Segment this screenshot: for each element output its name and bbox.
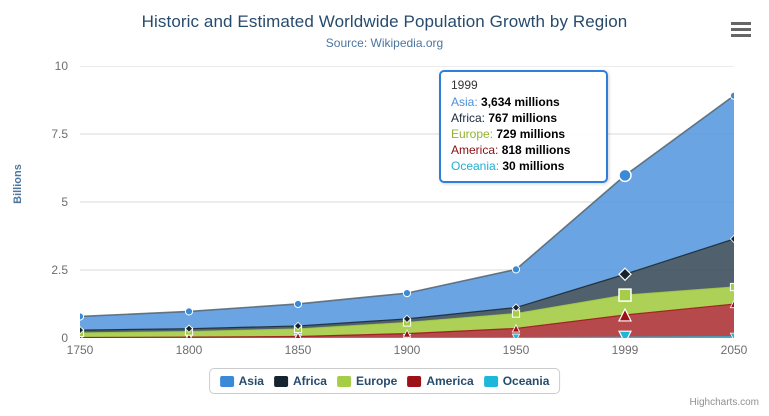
tooltip-series-value: 729 millions <box>496 127 565 141</box>
legend-item-africa[interactable]: Africa <box>274 374 327 388</box>
y-axis-tick-label: 5 <box>8 195 68 209</box>
y-axis-tick-label: 2.5 <box>8 263 68 277</box>
x-axis-tick-label: 1999 <box>590 343 660 357</box>
legend-item-america[interactable]: America <box>407 374 473 388</box>
data-point-asia-1950[interactable] <box>512 266 519 273</box>
tooltip-series-value: 3,634 millions <box>481 95 560 109</box>
legend-swatch-icon <box>337 376 351 387</box>
legend-item-label: Asia <box>239 374 264 388</box>
x-axis-labels: 1750180018501900195019992050 <box>80 343 734 363</box>
chart-subtitle: Source: Wikipedia.org <box>0 36 769 50</box>
tooltip-series-value: 767 millions <box>488 111 557 125</box>
x-axis-tick-label: 2050 <box>699 343 769 357</box>
menu-bar-3 <box>731 34 751 37</box>
credits-label[interactable]: Highcharts.com <box>690 397 759 408</box>
data-point-asia-1900[interactable] <box>403 290 410 297</box>
x-axis-tick-label: 1800 <box>154 343 224 357</box>
legend-item-label: America <box>426 374 473 388</box>
legend-item-label: Africa <box>293 374 327 388</box>
tooltip-series-name: Asia: <box>451 95 481 109</box>
hamburger-menu-icon[interactable] <box>729 18 753 40</box>
x-axis-tick-label: 1850 <box>263 343 333 357</box>
tooltip-row: Africa: 767 millions <box>451 110 596 126</box>
tooltip-header: 1999 <box>451 78 596 92</box>
chart-legend: AsiaAfricaEuropeAmericaOceania <box>209 368 561 394</box>
menu-bar-2 <box>731 28 751 31</box>
data-point-asia-2050[interactable] <box>730 92 734 99</box>
y-axis-tick-label: 10 <box>8 59 68 73</box>
y-axis-tick-label: 7.5 <box>8 127 68 141</box>
data-point-europe-2050[interactable] <box>730 283 734 290</box>
legend-swatch-icon <box>407 376 421 387</box>
legend-swatch-icon <box>220 376 234 387</box>
data-point-asia-1750[interactable] <box>80 313 84 320</box>
chart-title: Historic and Estimated Worldwide Populat… <box>0 12 769 32</box>
tooltip: 1999 Asia: 3,634 millionsAfrica: 767 mil… <box>439 70 608 183</box>
tooltip-series-value: 30 millions <box>502 159 564 173</box>
tooltip-series-name: Europe: <box>451 127 496 141</box>
tooltip-series-name: Africa: <box>451 111 488 125</box>
y-axis-labels: 02.557.510 <box>0 66 68 338</box>
legend-item-label: Oceania <box>503 374 550 388</box>
tooltip-row: America: 818 millions <box>451 142 596 158</box>
chart-svg <box>80 66 734 338</box>
x-axis-tick-label: 1950 <box>481 343 551 357</box>
menu-bar-1 <box>731 22 751 25</box>
data-point-asia-1800[interactable] <box>185 308 192 315</box>
data-point-asia-1999[interactable] <box>619 169 631 181</box>
legend-item-asia[interactable]: Asia <box>220 374 264 388</box>
tooltip-row: Europe: 729 millions <box>451 126 596 142</box>
highcharts-container: Historic and Estimated Worldwide Populat… <box>0 0 769 416</box>
data-point-europe-1999[interactable] <box>619 289 631 301</box>
legend-item-label: Europe <box>356 374 397 388</box>
tooltip-row: Asia: 3,634 millions <box>451 94 596 110</box>
tooltip-series-value: 818 millions <box>502 143 571 157</box>
tooltip-series-name: America: <box>451 143 502 157</box>
tooltip-row: Oceania: 30 millions <box>451 158 596 174</box>
legend-item-oceania[interactable]: Oceania <box>484 374 550 388</box>
tooltip-rows: Asia: 3,634 millionsAfrica: 767 millions… <box>451 94 596 174</box>
plot-area <box>80 66 734 338</box>
tooltip-series-name: Oceania: <box>451 159 502 173</box>
x-axis-tick-label: 1900 <box>372 343 442 357</box>
legend-item-europe[interactable]: Europe <box>337 374 397 388</box>
data-point-asia-1850[interactable] <box>294 300 301 307</box>
legend-swatch-icon <box>484 376 498 387</box>
legend-swatch-icon <box>274 376 288 387</box>
x-axis-tick-label: 1750 <box>45 343 115 357</box>
